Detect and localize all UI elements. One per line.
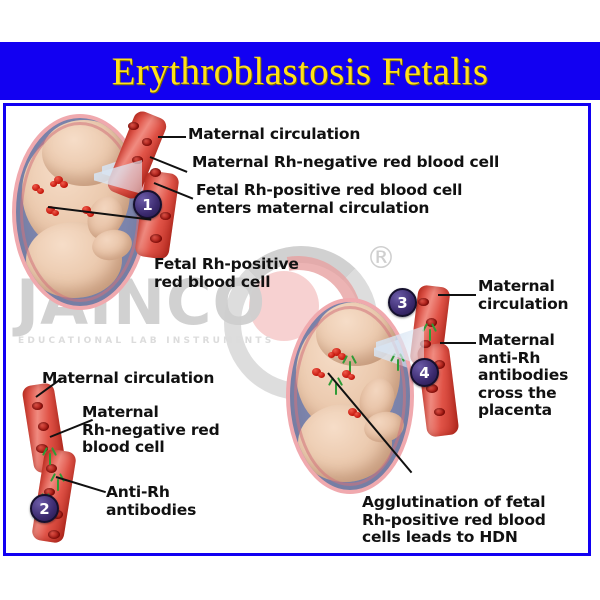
leader-line-maternal-circulation-1 (158, 136, 186, 138)
anti-rh-antibody-icon (342, 354, 358, 372)
maternal-rbc (418, 298, 429, 306)
fetus-head-2 (316, 302, 396, 366)
watermark-registered-icon: ® (366, 241, 396, 276)
step-badge-1-number: 1 (142, 196, 152, 214)
label-maternal-rh-negative-top: Maternal Rh-negative red blood cell (192, 154, 499, 172)
maternal-rbc (160, 212, 171, 220)
antibody-arm (351, 355, 357, 364)
antibody-arm (42, 447, 48, 456)
fetus-body-2 (296, 314, 400, 434)
anti-rh-antibody-icon (42, 446, 58, 464)
step-badge-1: 1 (133, 190, 162, 219)
leader-line-maternal-circulation-3 (438, 294, 476, 296)
leader-line-anti-rh-cross-placenta (440, 342, 476, 344)
amniotic-sac-2 (286, 298, 414, 494)
watermark-subtitle: EDUCATIONAL LAB INSTRUMENTS (18, 336, 274, 346)
antibody-stem (57, 479, 59, 491)
label-anti-rh-antibodies: Anti-Rh antibodies (106, 484, 196, 519)
antibody-arm (342, 355, 348, 364)
maternal-rbc (38, 422, 49, 431)
antibody-arm (51, 447, 57, 456)
page-title: Erythroblastosis Fetalis (0, 42, 600, 100)
title-bar: Erythroblastosis Fetalis (0, 42, 600, 100)
step-badge-3-number: 3 (397, 294, 407, 312)
label-maternal-circulation-right: Maternal circulation (478, 278, 568, 313)
diagram-page: Erythroblastosis Fetalis JAINCO ® EDUCAT… (0, 0, 600, 600)
maternal-vessel-1 (116, 112, 196, 262)
diagram-canvas: JAINCO ® EDUCATIONAL LAB INSTRUMENTS (6, 106, 588, 553)
maternal-rbc (32, 402, 43, 410)
label-maternal-circulation-mid: Maternal circulation (42, 370, 214, 388)
step-badge-4-number: 4 (419, 364, 429, 382)
maternal-rbc (142, 138, 152, 146)
antibody-stem (349, 361, 351, 373)
womb-panel-2 (286, 298, 414, 494)
antibody-stem (397, 359, 399, 371)
maternal-rbc (434, 408, 445, 416)
anti-rh-antibody-icon (422, 322, 438, 340)
fetal-rbc-in-maternal-vessel (150, 234, 162, 243)
label-maternal-rh-negative-mid: Maternal Rh-negative red blood cell (82, 404, 220, 457)
label-agglutination-hdn: Agglutination of fetal Rh-positive red b… (362, 494, 546, 547)
label-fetal-rh-positive-cell: Fetal Rh-positive red blood cell (154, 256, 299, 291)
fetus-lower-body-2 (298, 404, 392, 482)
maternal-rbc (48, 530, 60, 539)
step-badge-3: 3 (388, 288, 417, 317)
step-badge-2: 2 (30, 494, 59, 523)
diagram-frame: JAINCO ® EDUCATIONAL LAB INSTRUMENTS (3, 103, 591, 556)
fetus-lower-body-1 (26, 222, 122, 298)
maternal-rbc (128, 122, 139, 130)
label-maternal-circulation-top: Maternal circulation (188, 126, 360, 144)
label-fetal-enters-maternal: Fetal Rh-positive red blood cell enters … (196, 182, 462, 217)
maternal-rbc (150, 168, 161, 177)
label-anti-rh-cross-placenta: Maternal anti-Rh antibodies cross the pl… (478, 332, 568, 420)
step-badge-2-number: 2 (39, 500, 49, 518)
anti-rh-antibody-icon (50, 472, 66, 490)
step-badge-4: 4 (410, 358, 439, 387)
antibody-stem (429, 329, 431, 341)
antibody-stem (49, 453, 51, 465)
antibody-arm (431, 323, 437, 332)
fetus-arm-2 (355, 374, 400, 426)
